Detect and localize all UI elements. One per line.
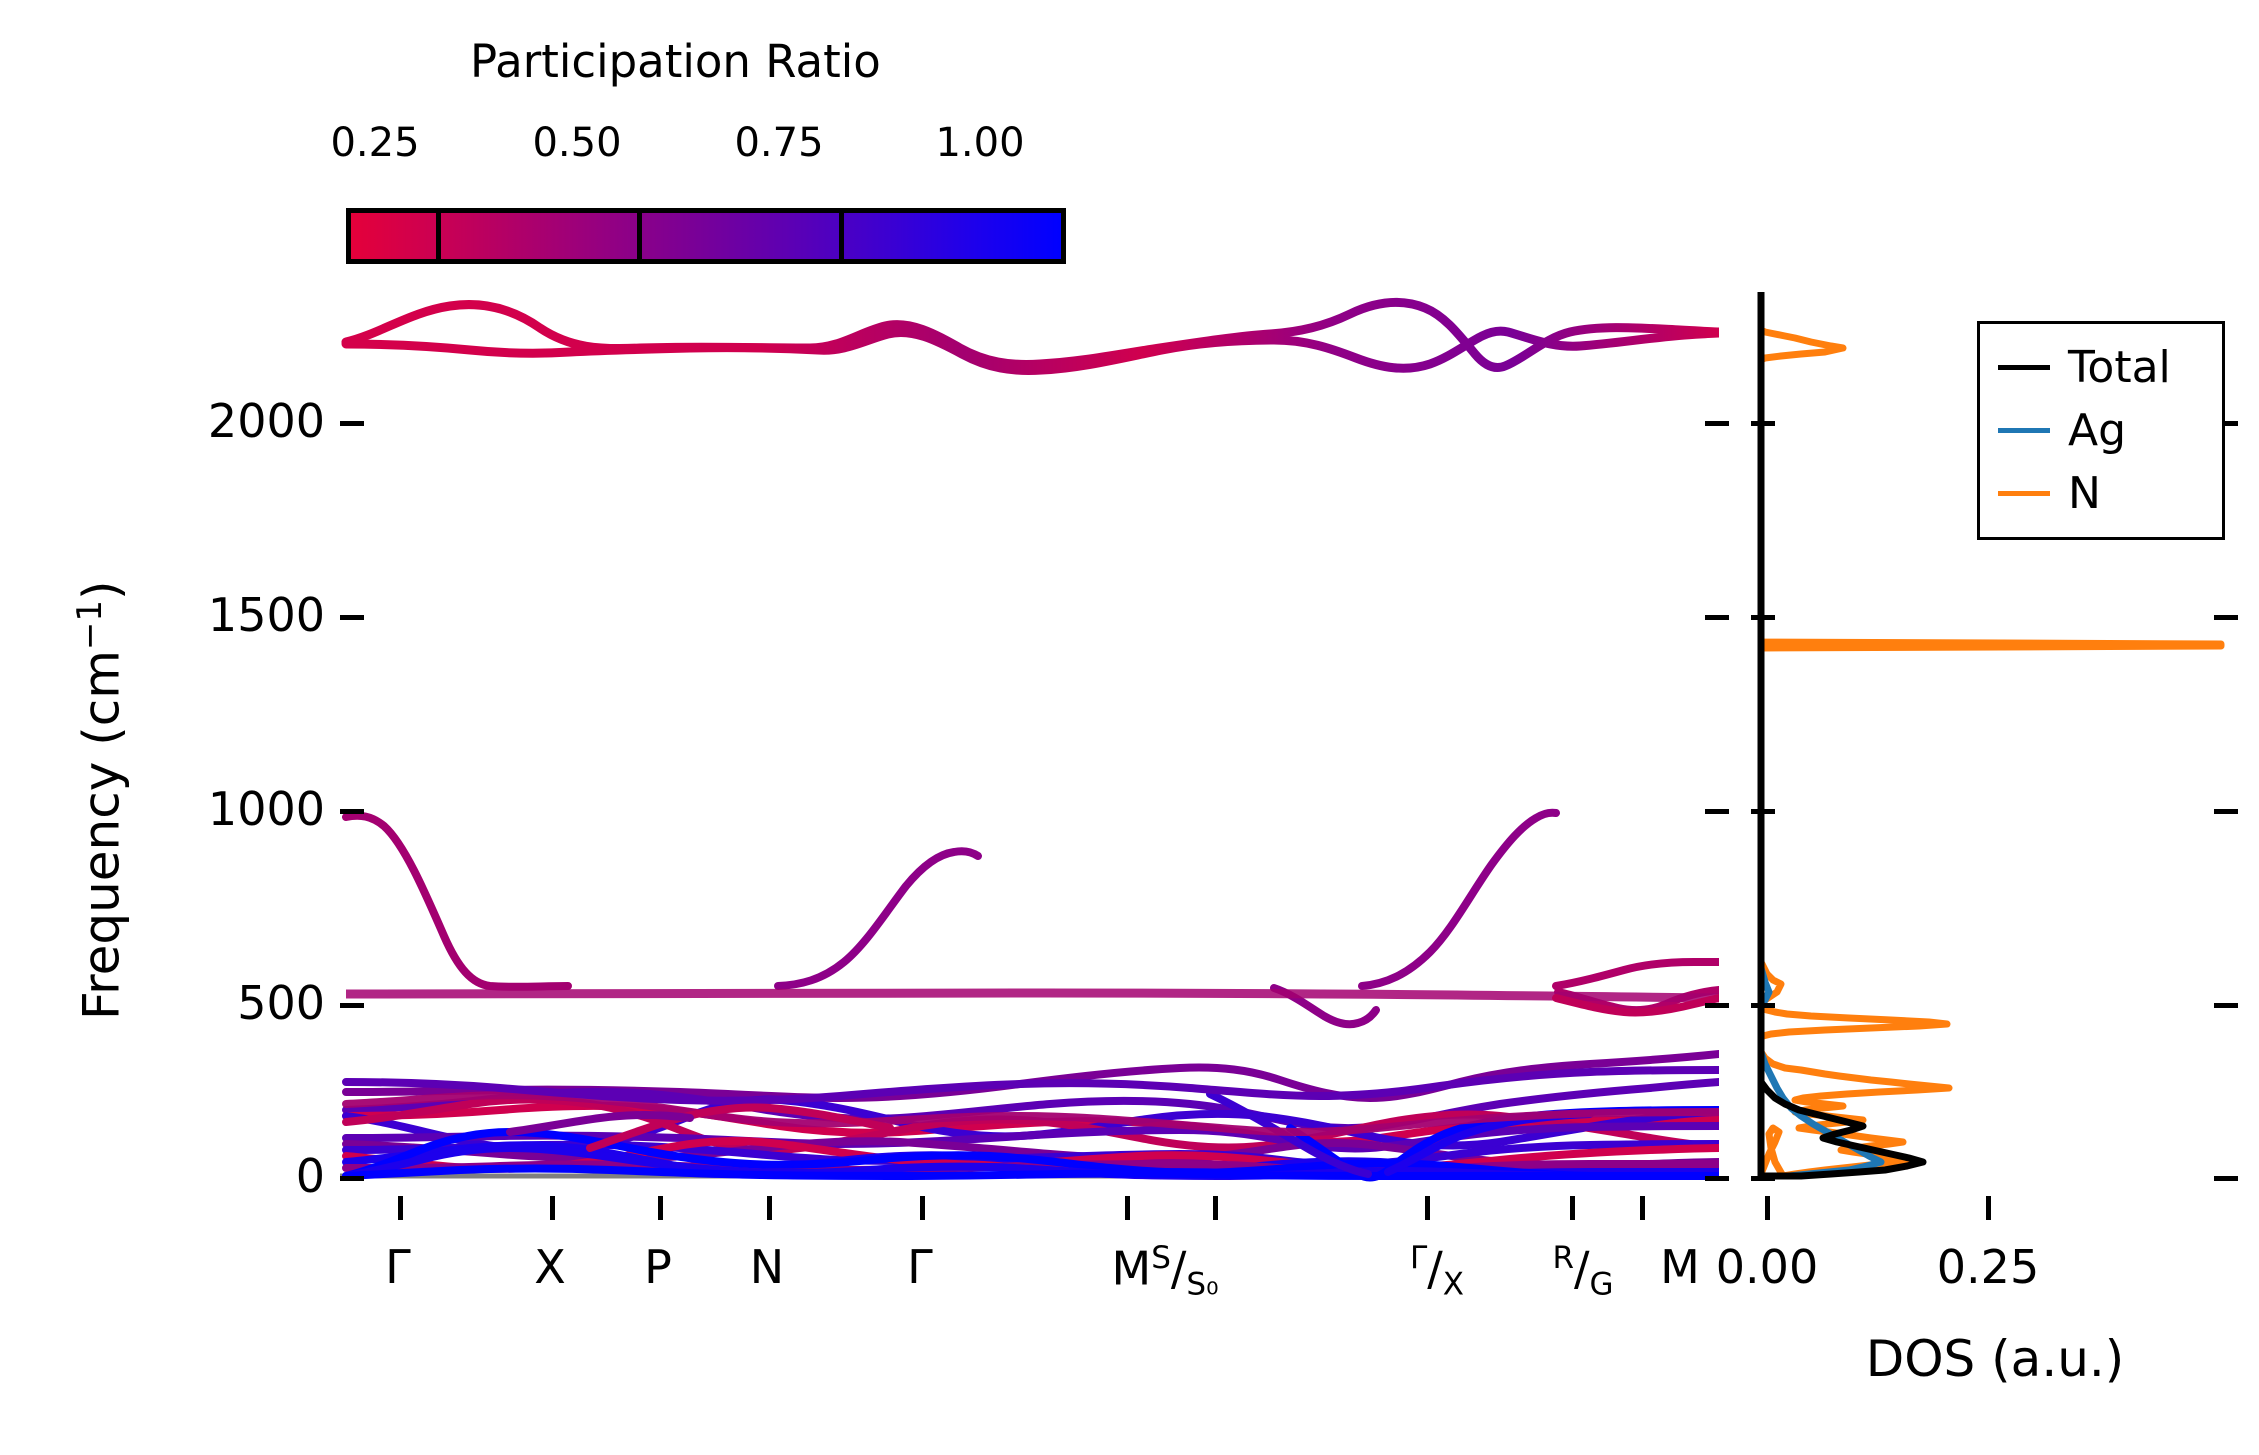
participation-ratio-colorbar[interactable] bbox=[346, 208, 1066, 264]
dos-ytick-mark-1000-right bbox=[2214, 809, 2238, 814]
y-axis-label-main: Frequency (cm bbox=[73, 650, 131, 1020]
band-structure-plot bbox=[340, 292, 1719, 1210]
band-group-610 bbox=[346, 986, 1719, 998]
xtick-text: Γ bbox=[385, 1240, 411, 1294]
colorbar-title: Participation Ratio bbox=[470, 35, 881, 88]
xtick-mark-x bbox=[550, 1196, 555, 1220]
dos-curve-ag bbox=[1761, 292, 1881, 1176]
band-structure-axes[interactable] bbox=[340, 292, 1729, 1220]
xtick-text: Γ bbox=[907, 1240, 933, 1294]
dos-xtick-mark-025 bbox=[1986, 1196, 1991, 1220]
xtick-text: M bbox=[1660, 1240, 1700, 1294]
xtick-mark-gamma-2 bbox=[920, 1196, 925, 1220]
ytick-label-0: 0 bbox=[110, 1149, 325, 1203]
ytick-label-2000: 2000 bbox=[110, 394, 325, 448]
dos-ytick-mark-1500-right bbox=[2214, 615, 2238, 620]
dos-xtick-label-025: 0.25 bbox=[1937, 1240, 2039, 1294]
colorbar-divider-2 bbox=[637, 208, 642, 264]
xtick-mark-n bbox=[767, 1196, 772, 1220]
y-axis-label: Frequency (cm−1) bbox=[70, 580, 131, 1020]
xtick-mark-r-g bbox=[1570, 1196, 1575, 1220]
xtick-text-sub-g: G bbox=[1590, 1267, 1614, 1303]
xtick-text-m: M bbox=[1112, 1241, 1152, 1295]
ytick-mark-2000-right bbox=[1705, 421, 1729, 426]
xtick-text-sup-gamma: Γ bbox=[1410, 1240, 1427, 1276]
xtick-label-gamma-2: Γ bbox=[907, 1240, 933, 1294]
legend-label-ag: Ag bbox=[2068, 409, 2126, 453]
xtick-label-p: P bbox=[644, 1240, 672, 1294]
ytick-mark-0 bbox=[340, 1176, 364, 1181]
xtick-text-sup-s: S bbox=[1151, 1240, 1171, 1276]
xtick-label-r-g: R/G bbox=[1552, 1240, 1613, 1303]
dos-ytick-mark-0 bbox=[1751, 1176, 1775, 1181]
ytick-mark-1000 bbox=[340, 809, 364, 814]
legend-label-n: N bbox=[2068, 472, 2101, 516]
y-axis-label-tail: ) bbox=[73, 580, 131, 600]
xtick-mark-m-last bbox=[1640, 1196, 1645, 1220]
dos-ytick-mark-1000 bbox=[1751, 809, 1775, 814]
ytick-mark-500 bbox=[340, 1003, 364, 1008]
band-group-high-frequency bbox=[346, 302, 1719, 370]
dos-curve-total bbox=[1761, 292, 1923, 1176]
xtick-text: P bbox=[644, 1240, 672, 1294]
legend-line-ag bbox=[1998, 428, 2050, 433]
dos-ytick-mark-500-right bbox=[2214, 1003, 2238, 1008]
dos-ytick-mark-1500 bbox=[1751, 615, 1775, 620]
xtick-label-m-last: M bbox=[1660, 1240, 1700, 1294]
dos-ytick-mark-2000 bbox=[1751, 421, 1775, 426]
ytick-mark-1500 bbox=[340, 615, 364, 620]
ytick-label-500: 500 bbox=[110, 976, 325, 1030]
xtick-mark-s0 bbox=[1213, 1196, 1218, 1220]
dos-ytick-mark-0-right bbox=[2214, 1176, 2238, 1181]
xtick-label-m-s-s0: MS/S₀ bbox=[1112, 1240, 1219, 1303]
xtick-text-slash: / bbox=[1171, 1241, 1187, 1295]
dos-x-axis-label: DOS (a.u.) bbox=[1866, 1330, 2125, 1388]
xtick-text-slash: / bbox=[1427, 1241, 1443, 1295]
ytick-mark-2000 bbox=[340, 421, 364, 426]
dos-legend[interactable]: Total Ag N bbox=[1977, 321, 2225, 540]
xtick-mark-p bbox=[658, 1196, 663, 1220]
ytick-mark-1000-right bbox=[1705, 809, 1729, 814]
legend-line-total bbox=[1998, 365, 2050, 370]
xtick-label-n: N bbox=[750, 1240, 784, 1294]
xtick-label-gamma-1: Γ bbox=[385, 1240, 411, 1294]
colorbar-divider-3 bbox=[839, 208, 844, 264]
ytick-label-1500: 1500 bbox=[110, 588, 325, 642]
colorbar-gradient bbox=[346, 208, 1066, 264]
ytick-label-1000: 1000 bbox=[110, 782, 325, 836]
legend-item-ag[interactable]: Ag bbox=[1980, 399, 2222, 462]
colorbar-tick-label-0: 0.25 bbox=[315, 120, 435, 166]
xtick-mark-m-s bbox=[1125, 1196, 1130, 1220]
legend-item-total[interactable]: Total bbox=[1980, 336, 2222, 399]
xtick-label-x: X bbox=[534, 1240, 566, 1294]
legend-line-n bbox=[1998, 491, 2050, 496]
colorbar-tick-label-3: 1.00 bbox=[920, 120, 1040, 166]
dos-xtick-mark-000 bbox=[1765, 1196, 1770, 1220]
legend-item-n[interactable]: N bbox=[1980, 462, 2222, 525]
y-axis-label-exponent: −1 bbox=[70, 600, 110, 650]
colorbar-tick-label-1: 0.50 bbox=[517, 120, 637, 166]
xtick-text-slash: / bbox=[1574, 1241, 1590, 1295]
colorbar-tick-label-2: 0.75 bbox=[719, 120, 839, 166]
xtick-label-gamma-x: Γ/X bbox=[1410, 1240, 1464, 1303]
ytick-mark-500-right bbox=[1705, 1003, 1729, 1008]
xtick-text-sub-x: X bbox=[1443, 1267, 1464, 1303]
xtick-text-sup-r: R bbox=[1552, 1240, 1574, 1276]
dos-xtick-label-000: 0.00 bbox=[1716, 1240, 1818, 1294]
xtick-text: X bbox=[534, 1240, 566, 1294]
ytick-mark-1500-right bbox=[1705, 615, 1729, 620]
xtick-text: N bbox=[750, 1240, 784, 1294]
colorbar-divider-1 bbox=[436, 208, 441, 264]
dos-ytick-mark-500 bbox=[1751, 1003, 1775, 1008]
legend-label-total: Total bbox=[2068, 346, 2171, 390]
band-group-1360 bbox=[346, 644, 1719, 647]
xtick-mark-gamma-1 bbox=[398, 1196, 403, 1220]
ytick-mark-0-right bbox=[1705, 1176, 1729, 1181]
xtick-text-sub-s0: S₀ bbox=[1186, 1267, 1218, 1303]
xtick-mark-gamma-x bbox=[1425, 1196, 1430, 1220]
band-group-low-frequency bbox=[346, 1054, 1719, 1177]
